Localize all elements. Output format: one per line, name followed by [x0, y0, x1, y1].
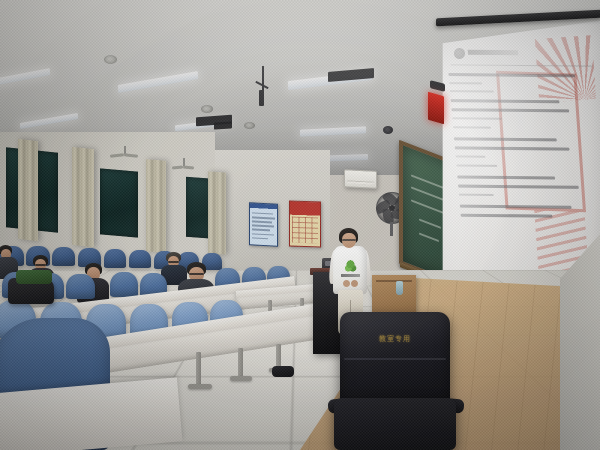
- chair-seat: [334, 398, 456, 450]
- seat: [52, 247, 75, 266]
- ceiling-fan: [110, 146, 138, 160]
- shoes: [272, 366, 294, 377]
- desk-foot: [230, 376, 252, 381]
- desk-leg: [196, 352, 201, 386]
- attendee-glasses: [35, 264, 46, 266]
- attendee-glasses: [189, 273, 204, 275]
- curtain: [18, 139, 38, 241]
- bag: [16, 270, 52, 284]
- curtain: [146, 159, 166, 253]
- water-bottle: [396, 281, 403, 295]
- air-conditioner-unit: [344, 169, 377, 189]
- desk-foot: [188, 384, 212, 389]
- exit-sign: [428, 92, 444, 125]
- seat: [66, 274, 95, 299]
- window: [100, 168, 138, 237]
- chair-label: 教室专用: [374, 334, 416, 343]
- presenter-glasses: [342, 239, 356, 241]
- chair-backrest: 教室专用: [340, 312, 450, 408]
- poster-red: [289, 200, 321, 247]
- seat: [129, 250, 151, 268]
- seat: [110, 272, 138, 297]
- poster-blue: [249, 202, 278, 247]
- desk-leg: [238, 348, 243, 378]
- presenter-shirt-graphic: [343, 260, 358, 274]
- presenter-shirt-text: [341, 274, 360, 277]
- curtain: [208, 171, 226, 254]
- curtain: [72, 147, 94, 247]
- lecture-hall-photo: 教室专用: [0, 0, 600, 450]
- wall-fan-bracket: [390, 222, 393, 236]
- ceiling-fan: [172, 158, 194, 170]
- presenter-hand-right: [351, 280, 358, 287]
- foreground-chair: 教室专用: [334, 312, 456, 450]
- presenter-hand-left: [343, 280, 350, 287]
